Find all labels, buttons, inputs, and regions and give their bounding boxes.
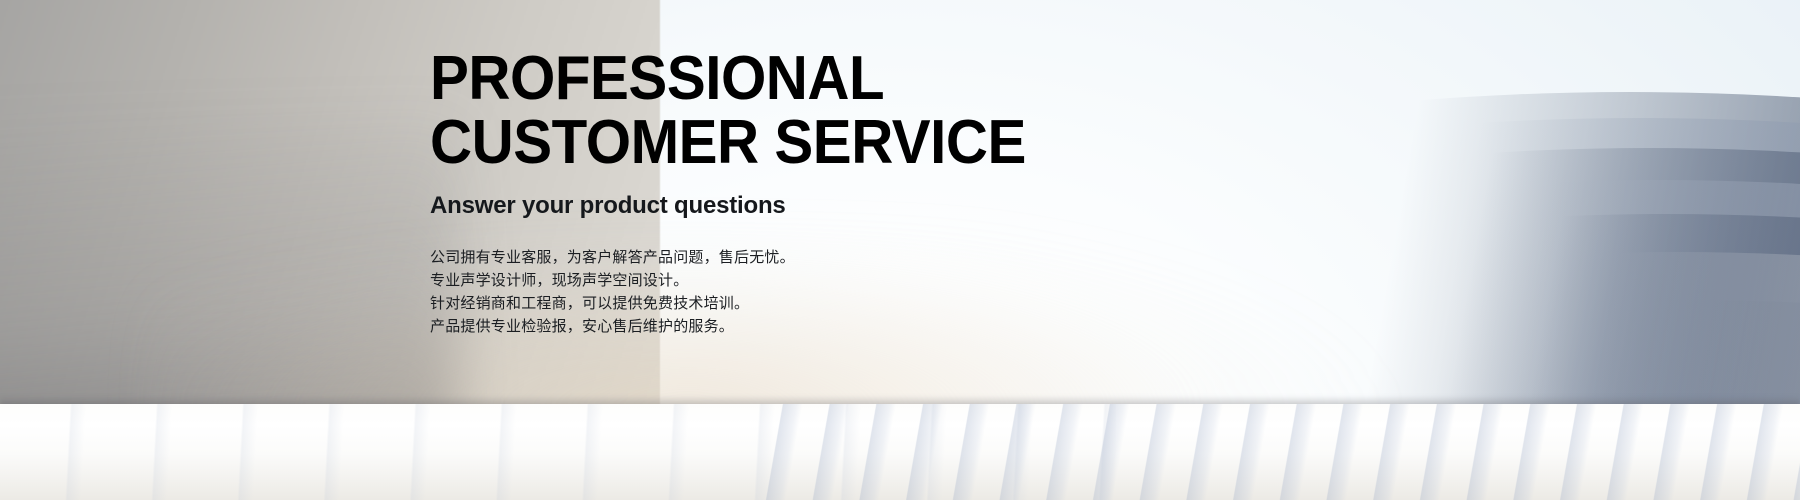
description-line: 产品提供专业检验报，安心售后维护的服务。: [430, 315, 1190, 338]
hero-banner: PROFESSIONAL CUSTOMER SERVICE Answer you…: [0, 0, 1800, 500]
headline-line-1: PROFESSIONAL: [430, 52, 1144, 107]
description-line: 针对经销商和工程商，可以提供免费技术培训。: [430, 292, 1190, 315]
floor-streaks-right: [756, 404, 1800, 500]
banner-text-content: PROFESSIONAL CUSTOMER SERVICE Answer you…: [430, 52, 1190, 338]
banner-subtitle: Answer your product questions: [430, 192, 1190, 220]
page-title: PROFESSIONAL CUSTOMER SERVICE: [430, 52, 1190, 170]
description-line: 公司拥有专业客服，为客户解答产品问题，售后无忧。: [430, 246, 1190, 269]
description-line: 专业声学设计师，现场声学空间设计。: [430, 269, 1190, 292]
service-description-list: 公司拥有专业客服，为客户解答产品问题，售后无忧。 专业声学设计师，现场声学空间设…: [430, 246, 1190, 338]
headline-line-2: CUSTOMER SERVICE: [430, 116, 1144, 171]
